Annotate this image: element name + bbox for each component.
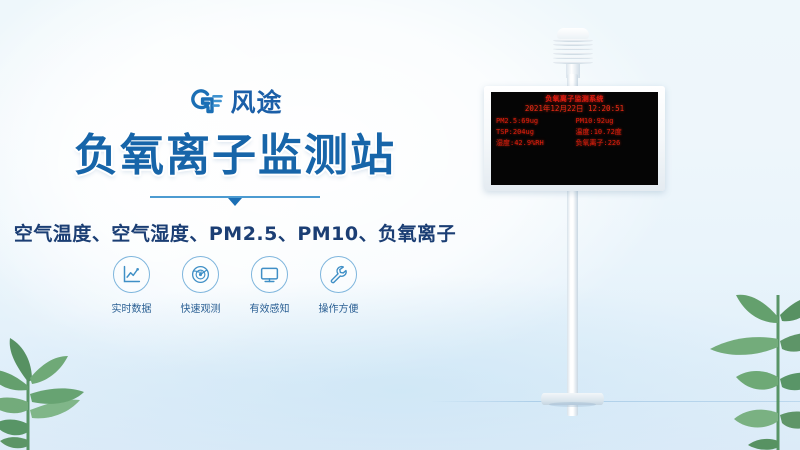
- wrench-icon: [320, 256, 357, 293]
- led-reading-temperature: 温度:10.72度: [576, 127, 654, 137]
- feature-label: 有效感知: [250, 300, 290, 315]
- led-display-panel: 负氧离子监测系统 2021年12月22日 12:20:51 PM2.5:69ug…: [484, 86, 665, 191]
- led-readings-grid: PM2.5:69ug PM10:92ug TSP:204ug 温度:10.72度…: [496, 116, 653, 148]
- feature-item-effective-sensing: 有效感知: [247, 256, 293, 315]
- brand-name: 风途: [230, 90, 282, 115]
- ground-line: [430, 401, 800, 402]
- feature-item-fast-observation: 快速观测: [178, 256, 224, 315]
- feature-label: 操作方便: [319, 300, 359, 315]
- sensor-cap: [557, 28, 589, 39]
- leaf-plant-icon-right: [674, 265, 800, 450]
- led-reading-pm25: PM2.5:69ug: [496, 116, 574, 126]
- feature-label: 快速观测: [181, 300, 221, 315]
- poster-canvas: 风途 负氧离子监测站 空气温度、空气湿度、PM2.5、PM10、负氧离子 实时数…: [0, 0, 800, 450]
- sensor-louver-plates: [553, 39, 593, 65]
- brand-logo: 风途: [0, 88, 470, 116]
- divider-triangle-icon: [228, 198, 242, 206]
- feature-label: 实时数据: [112, 300, 152, 315]
- radar-scan-icon: [182, 256, 219, 293]
- led-reading-tsp: TSP:204ug: [496, 127, 574, 137]
- feature-list: 实时数据 快速观测: [0, 256, 470, 315]
- hero-text-column: 风途 负氧离子监测站 空气温度、空气湿度、PM2.5、PM10、负氧离子 实时数…: [0, 0, 470, 450]
- page-title: 负氧离子监测站: [0, 132, 470, 180]
- monitor-screen-icon: [251, 256, 288, 293]
- led-reading-pm10: PM10:92ug: [576, 116, 654, 126]
- line-chart-icon: [113, 256, 150, 293]
- hero-subtitle: 空气温度、空气湿度、PM2.5、PM10、负氧离子: [0, 219, 470, 246]
- led-reading-negative-ions: 负氧离子:226: [576, 138, 654, 148]
- wind-g-logo-icon: [187, 88, 223, 116]
- led-reading-humidity: 湿度:42.9%RH: [496, 138, 574, 148]
- led-display-datetime: 2021年12月22日 12:20:51: [496, 104, 653, 114]
- pole-base-plate-icon: [541, 393, 604, 405]
- led-screen: 负氧离子监测系统 2021年12月22日 12:20:51 PM2.5:69ug…: [491, 92, 658, 185]
- feature-item-easy-operation: 操作方便: [316, 256, 362, 315]
- led-display-title: 负氧离子监测系统: [496, 95, 653, 104]
- feature-item-realtime-data: 实时数据: [109, 256, 155, 315]
- radiation-shield-sensor-icon: [549, 28, 597, 78]
- title-divider: [0, 196, 470, 206]
